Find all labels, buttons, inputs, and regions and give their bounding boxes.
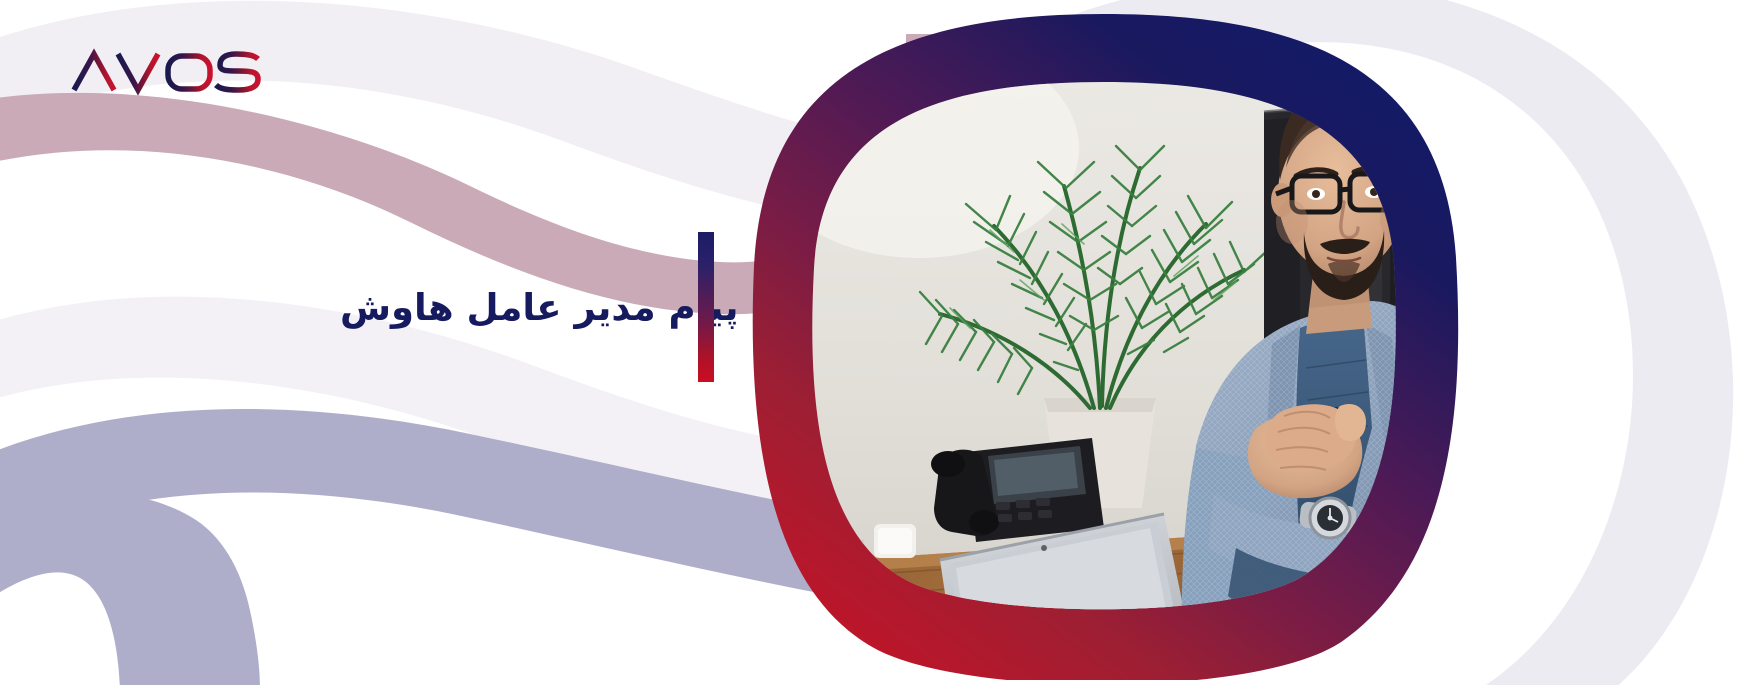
accent-divider-bar (698, 232, 714, 382)
tv-photo-frame (744, 8, 1464, 680)
periwinkle-swoosh-tail (0, 494, 260, 685)
headline-container: پیام مدیر عامل هاوش (340, 258, 710, 358)
havosh-logo[interactable] (22, 40, 302, 102)
hero-banner: پیام مدیر عامل هاوش (0, 0, 1758, 685)
page-title: پیام مدیر عامل هاوش (340, 285, 739, 331)
